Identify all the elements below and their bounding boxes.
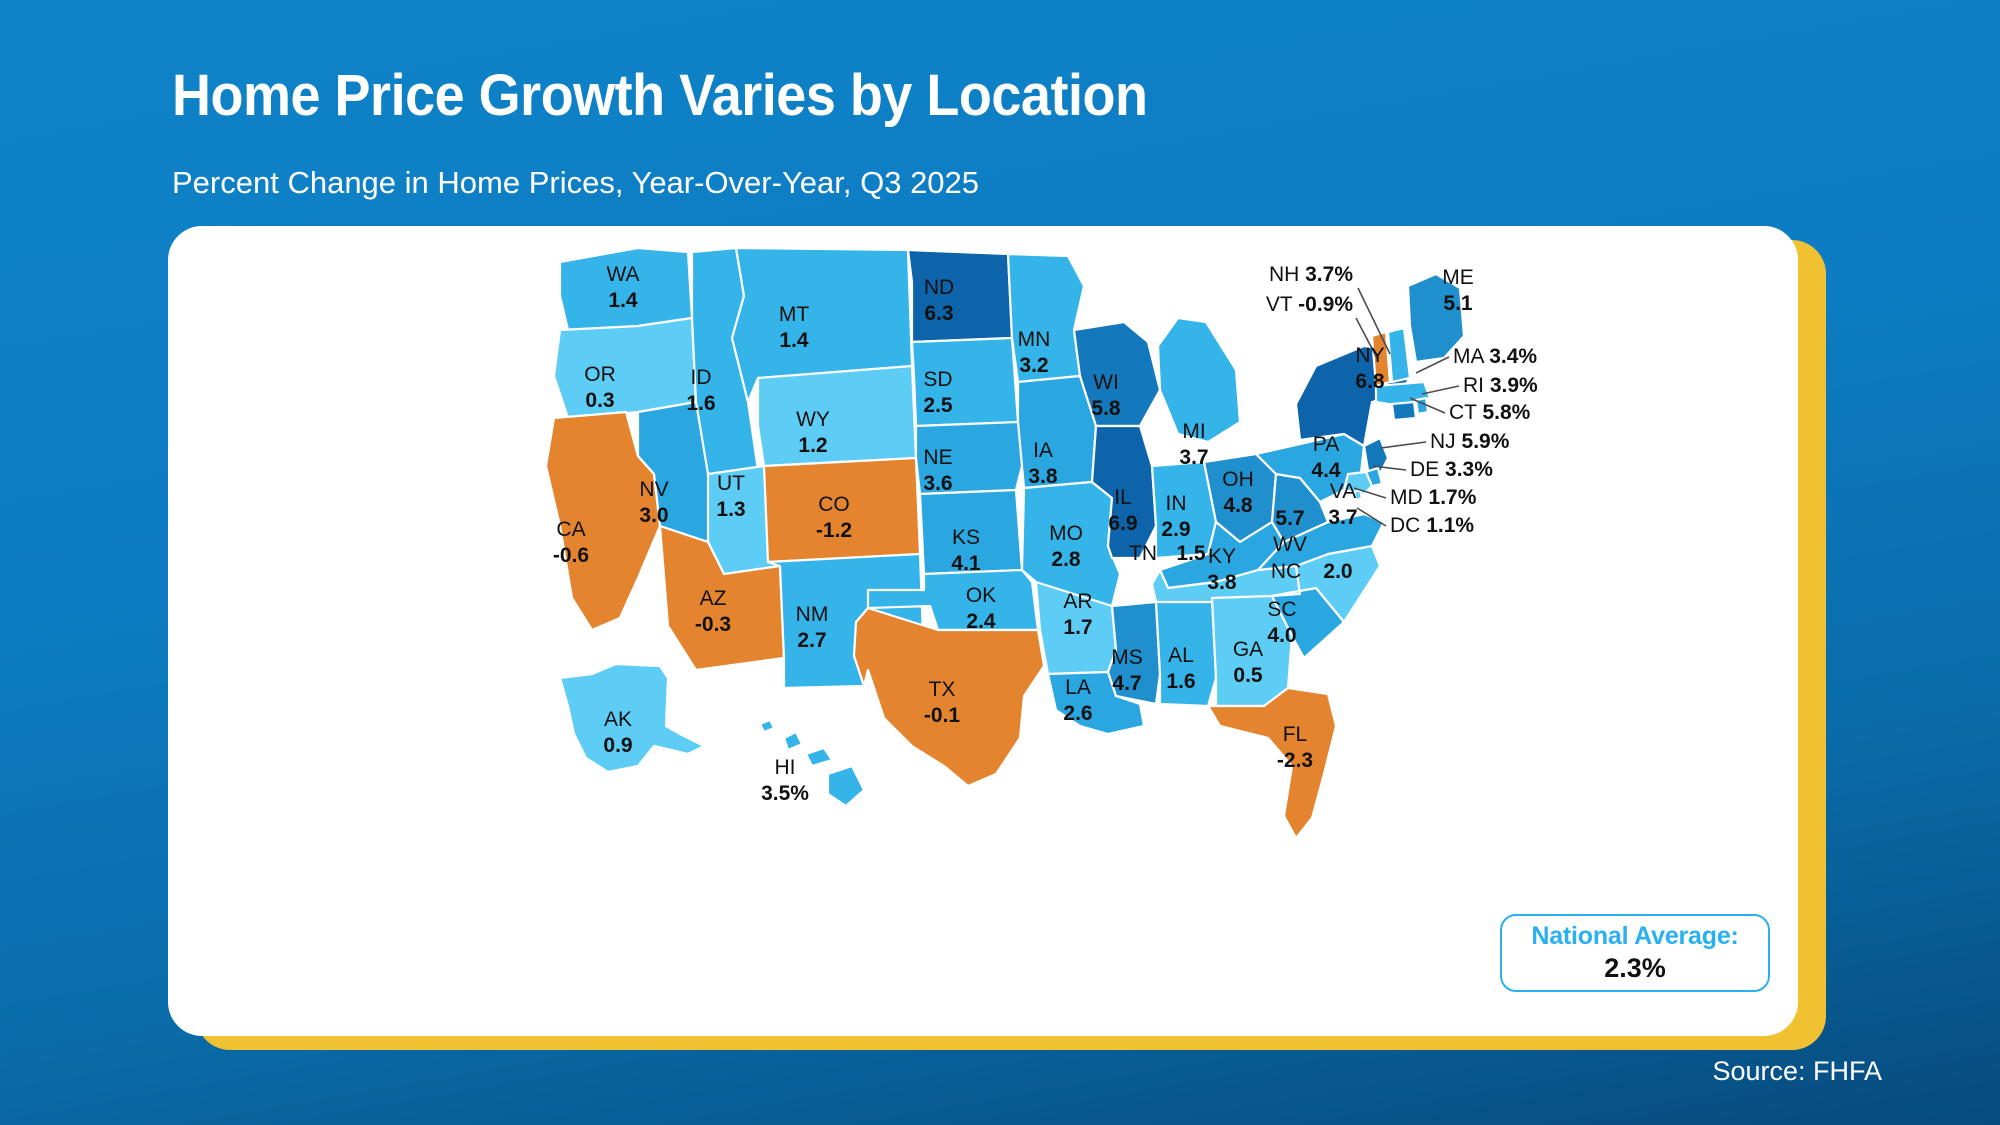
infographic-root: Home Price Growth Varies by Location Per… — [0, 0, 2000, 1125]
state-label-ga: GA — [1233, 638, 1263, 661]
callout-value-dc: 1.1% — [1426, 514, 1474, 537]
callout-value-ma: 3.4% — [1489, 345, 1537, 368]
state-ct[interactable] — [1392, 402, 1416, 420]
state-value-va: 3.7 — [1328, 506, 1357, 529]
callout-ct: CT 5.8% — [1449, 401, 1531, 424]
state-label-id: ID — [691, 366, 712, 389]
callout-value-md: 1.7% — [1429, 486, 1477, 509]
callout-nh: NH 3.7% — [1269, 263, 1353, 286]
state-label-nm: NM — [796, 603, 829, 626]
callout-abbr-md: MD — [1390, 486, 1423, 509]
state-value-ky: 3.8 — [1207, 571, 1237, 594]
callout-value-nj: 5.9% — [1462, 430, 1510, 453]
callout-dc: DC 1.1% — [1390, 514, 1474, 537]
state-value-mi: 3.7 — [1179, 446, 1208, 469]
state-value-id: 1.6 — [686, 392, 715, 415]
callout-abbr-nh: NH — [1269, 263, 1299, 286]
national-average-badge: National Average: 2.3% — [1500, 914, 1770, 992]
state-value-mt: 1.4 — [779, 329, 809, 352]
state-label-va: VA — [1330, 480, 1356, 503]
state-label-ks: KS — [952, 526, 980, 549]
map-card: WA1.4OR0.3CA-0.6NV3.0ID1.6MT1.4WY1.2UT1.… — [168, 226, 1798, 1036]
state-value-ga: 0.5 — [1233, 664, 1263, 687]
state-label-hi: HI — [775, 756, 796, 779]
state-label-ne: NE — [923, 446, 952, 469]
state-value-ok: 2.4 — [966, 610, 996, 633]
state-label-mt: MT — [779, 303, 809, 326]
state-label-ia: IA — [1033, 439, 1053, 462]
state-label-ca: CA — [556, 518, 585, 541]
state-value-ar: 1.7 — [1063, 616, 1092, 639]
callout-nj: NJ 5.9% — [1430, 430, 1510, 453]
callout-value-ri: 3.9% — [1490, 374, 1538, 397]
state-label-ar: AR — [1063, 590, 1092, 613]
state-label-wi: WI — [1093, 371, 1119, 394]
state-label-mo: MO — [1049, 522, 1083, 545]
national-average-value: 2.3% — [1604, 953, 1666, 984]
state-label-sd: SD — [923, 368, 952, 391]
callout-abbr-nj: NJ — [1430, 430, 1456, 453]
state-nh[interactable] — [1388, 328, 1410, 382]
state-value-mo: 2.8 — [1051, 548, 1081, 571]
state-value-il: 6.9 — [1108, 512, 1137, 535]
state-label-al: AL — [1168, 644, 1194, 667]
callout-abbr-ct: CT — [1449, 401, 1477, 424]
callout-value-ct: 5.8% — [1482, 401, 1530, 424]
callout-abbr-ma: MA — [1453, 345, 1484, 368]
state-label-oh: OH — [1222, 468, 1254, 491]
state-label-wy: WY — [796, 408, 830, 431]
state-value-tx: -0.1 — [924, 704, 961, 727]
callout-abbr-dc: DC — [1390, 514, 1420, 537]
state-value-la: 2.6 — [1063, 702, 1092, 725]
state-label-tx: TX — [929, 678, 956, 701]
state-label-az: AZ — [700, 587, 727, 610]
state-value-tn: 1.5 — [1176, 542, 1206, 565]
state-label-ny: NY — [1355, 344, 1384, 367]
callout-md: MD 1.7% — [1390, 486, 1477, 509]
state-value-ne: 3.6 — [923, 472, 952, 495]
callout-vt: VT -0.9% — [1266, 293, 1353, 316]
state-value-ia: 3.8 — [1028, 465, 1058, 488]
state-shapes-group — [546, 248, 1464, 838]
state-value-hi: 3.5% — [761, 782, 809, 805]
state-value-co: -1.2 — [816, 519, 852, 542]
state-value-ny: 6.8 — [1355, 370, 1385, 393]
callout-de: DE 3.3% — [1410, 458, 1493, 481]
state-ri[interactable] — [1416, 398, 1428, 414]
state-value-nc: 2.0 — [1323, 560, 1352, 583]
state-value-fl: -2.3 — [1277, 749, 1313, 772]
callout-abbr-ri: RI — [1463, 374, 1484, 397]
state-label-la: LA — [1065, 676, 1091, 699]
state-label-nc: NC — [1271, 560, 1301, 583]
state-label-wv: WV — [1273, 533, 1307, 556]
state-label-co: CO — [818, 493, 850, 516]
state-value-in: 2.9 — [1161, 518, 1190, 541]
state-label-mn: MN — [1018, 328, 1051, 351]
page-title: Home Price Growth Varies by Location — [172, 62, 1147, 129]
state-value-wy: 1.2 — [798, 434, 827, 457]
state-value-ak: 0.9 — [603, 734, 632, 757]
state-label-in: IN — [1166, 492, 1187, 515]
state-value-mn: 3.2 — [1019, 354, 1048, 377]
state-value-nm: 2.7 — [797, 629, 826, 652]
state-value-wi: 5.8 — [1091, 397, 1121, 420]
callout-abbr-vt: VT — [1266, 293, 1293, 316]
state-value-oh: 4.8 — [1223, 494, 1253, 517]
state-value-or: 0.3 — [585, 389, 614, 412]
state-value-ut: 1.3 — [716, 498, 745, 521]
callout-value-de: 3.3% — [1445, 458, 1493, 481]
leader-line-nj — [1381, 442, 1426, 448]
state-value-nv: 3.0 — [639, 504, 668, 527]
state-value-wv: 5.7 — [1275, 507, 1304, 530]
state-label-ak: AK — [604, 708, 632, 731]
state-value-al: 1.6 — [1166, 670, 1195, 693]
state-value-nd: 6.3 — [924, 302, 953, 325]
callout-ri: RI 3.9% — [1463, 374, 1538, 397]
state-value-pa: 4.4 — [1311, 459, 1341, 482]
state-value-me: 5.1 — [1443, 292, 1473, 315]
callout-abbr-de: DE — [1410, 458, 1439, 481]
state-value-az: -0.3 — [695, 613, 731, 636]
state-label-wa: WA — [606, 263, 639, 286]
state-label-tn: TN — [1129, 542, 1157, 565]
state-label-nv: NV — [639, 478, 668, 501]
state-label-nd: ND — [924, 276, 954, 299]
state-or[interactable] — [554, 318, 696, 418]
state-value-wa: 1.4 — [608, 289, 638, 312]
page-subtitle: Percent Change in Home Prices, Year-Over… — [172, 165, 979, 201]
callout-value-vt: -0.9% — [1298, 293, 1353, 316]
callout-value-nh: 3.7% — [1305, 263, 1353, 286]
state-value-ca: -0.6 — [553, 544, 589, 567]
state-wy[interactable] — [758, 366, 916, 466]
state-value-sc: 4.0 — [1267, 624, 1296, 647]
state-label-ok: OK — [966, 584, 996, 607]
source-note: Source: FHFA — [1712, 1056, 1882, 1087]
state-label-ky: KY — [1208, 545, 1236, 568]
state-label-pa: PA — [1313, 433, 1339, 456]
state-label-me: ME — [1442, 266, 1474, 289]
state-label-mi: MI — [1182, 420, 1205, 443]
state-label-il: IL — [1114, 486, 1132, 509]
state-label-sc: SC — [1267, 598, 1296, 621]
state-value-sd: 2.5 — [923, 394, 953, 417]
national-average-label: National Average: — [1531, 922, 1738, 951]
state-value-ks: 4.1 — [951, 552, 981, 575]
callout-ma: MA 3.4% — [1453, 345, 1537, 368]
state-value-ms: 4.7 — [1112, 672, 1141, 695]
state-label-fl: FL — [1283, 723, 1308, 746]
state-label-ut: UT — [717, 472, 745, 495]
state-fl[interactable] — [1208, 688, 1336, 838]
state-label-or: OR — [584, 363, 616, 386]
state-label-ms: MS — [1111, 646, 1143, 669]
